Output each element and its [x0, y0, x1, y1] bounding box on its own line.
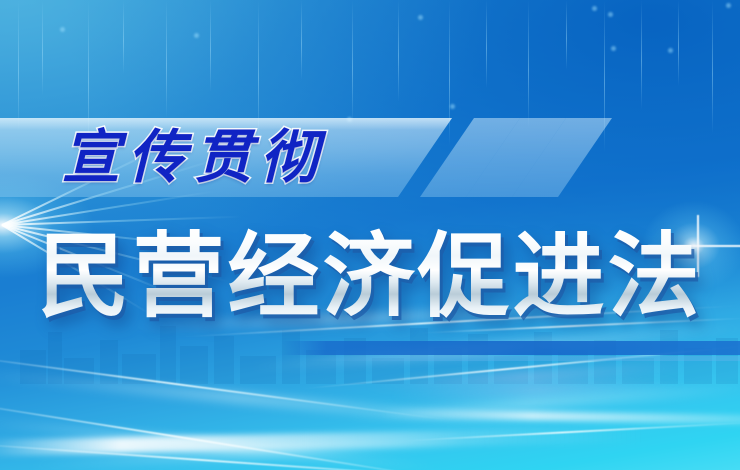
banner-poster: 宣传贯彻 民营经济促进法: [0, 0, 740, 470]
page-title: 民营经济促进法: [37, 226, 702, 326]
kicker-headline: 宣传贯彻: [62, 124, 326, 190]
main-title-wrap: 民营经济促进法: [0, 226, 740, 334]
